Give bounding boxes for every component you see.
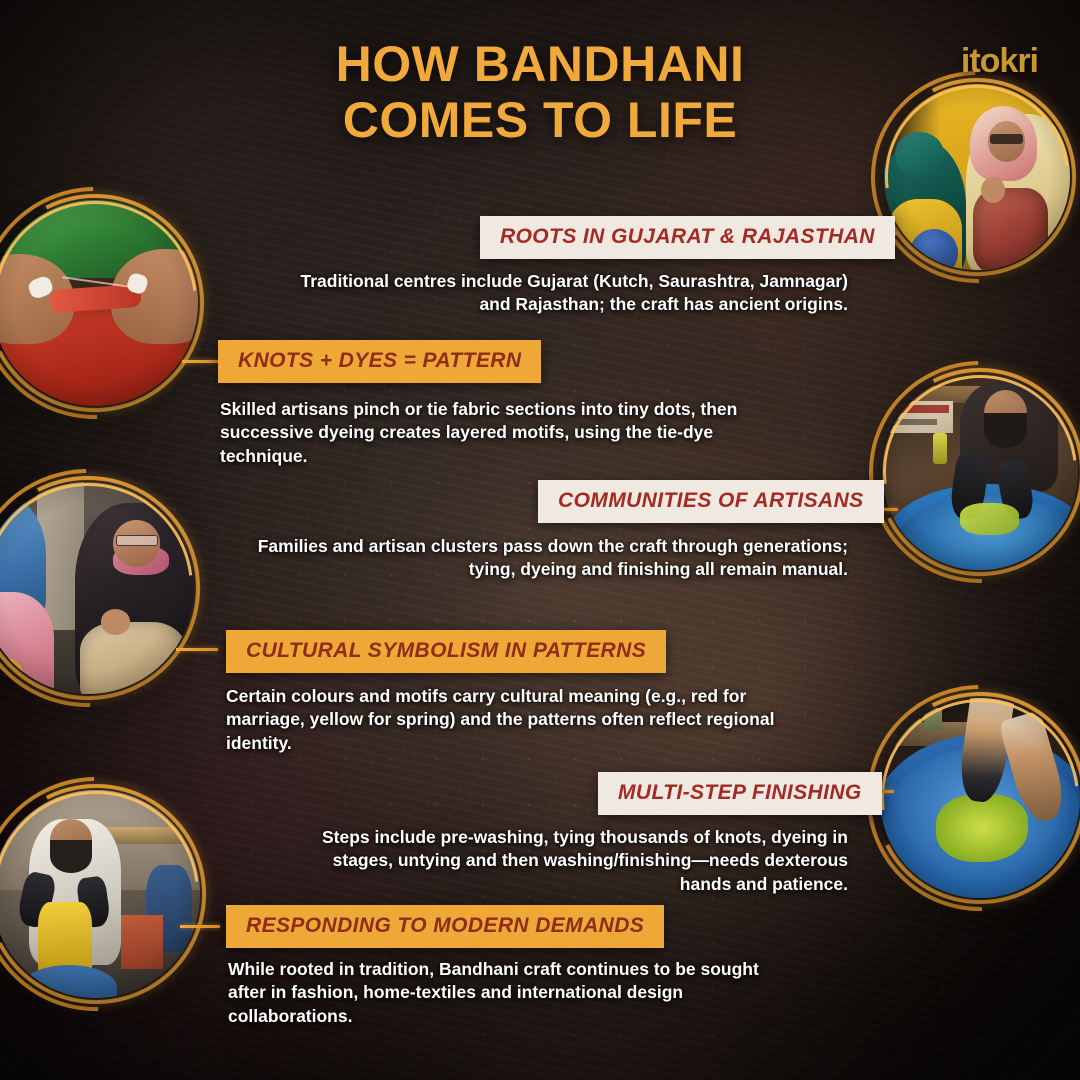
page-title-line2: COMES TO LIFE <box>0 92 1080 148</box>
section-label-text: CULTURAL SYMBOLISM IN PATTERNS <box>246 639 646 662</box>
section-label-text: RESPONDING TO MODERN DEMANDS <box>246 914 644 937</box>
section-label-text: ROOTS IN GUJARAT & RAJASTHAN <box>500 225 875 248</box>
section-body-roots: Traditional centres include Gujarat (Kut… <box>270 270 848 317</box>
section-label-communities[interactable]: COMMUNITIES OF ARTISANS <box>538 480 884 523</box>
section-body-modern: While rooted in tradition, Bandhani craf… <box>228 958 788 1028</box>
page-title: HOW BANDHANI COMES TO LIFE <box>0 36 1080 148</box>
brand-logo[interactable]: itokri <box>961 42 1038 81</box>
photo-woman-tying-cream-fabric <box>0 482 194 694</box>
section-label-text: KNOTS + DYES = PATTERN <box>238 349 521 372</box>
section-body-communities: Families and artisan clusters pass down … <box>240 535 848 582</box>
photo-scene <box>882 374 1078 570</box>
photo-man-yellow-dyed-yarn <box>0 790 200 998</box>
photo-dyer-blue-tub-workshop <box>882 374 1078 570</box>
section-label-finishing[interactable]: MULTI-STEP FINISHING <box>598 772 882 815</box>
photo-scene <box>880 698 1080 898</box>
photo-hands-tying-red-fabric <box>0 200 198 406</box>
photo-scene <box>0 200 198 406</box>
connector-line-modern <box>180 925 220 928</box>
photo-scene <box>0 482 194 694</box>
page-title-line1: HOW BANDHANI <box>336 36 745 92</box>
photo-dye-vat-blue-green <box>880 698 1080 898</box>
brand-logo-text: itokri <box>961 42 1038 80</box>
section-body-knots: Skilled artisans pinch or tie fabric sec… <box>220 398 750 468</box>
section-label-text: COMMUNITIES OF ARTISANS <box>558 489 864 512</box>
section-label-symbolism[interactable]: CULTURAL SYMBOLISM IN PATTERNS <box>226 630 666 673</box>
section-body-finishing: Steps include pre-washing, tying thousan… <box>320 826 848 896</box>
section-label-text: MULTI-STEP FINISHING <box>618 781 862 804</box>
infographic-canvas: HOW BANDHANI COMES TO LIFE itokri <box>0 0 1080 1080</box>
connector-line-knots <box>182 360 218 363</box>
section-label-roots[interactable]: ROOTS IN GUJARAT & RAJASTHAN <box>480 216 895 259</box>
photo-scene <box>0 790 200 998</box>
section-label-knots[interactable]: KNOTS + DYES = PATTERN <box>218 340 541 383</box>
connector-line-symbolism <box>176 648 218 651</box>
section-label-modern[interactable]: RESPONDING TO MODERN DEMANDS <box>226 905 664 948</box>
section-body-symbolism: Certain colours and motifs carry cultura… <box>226 685 782 755</box>
